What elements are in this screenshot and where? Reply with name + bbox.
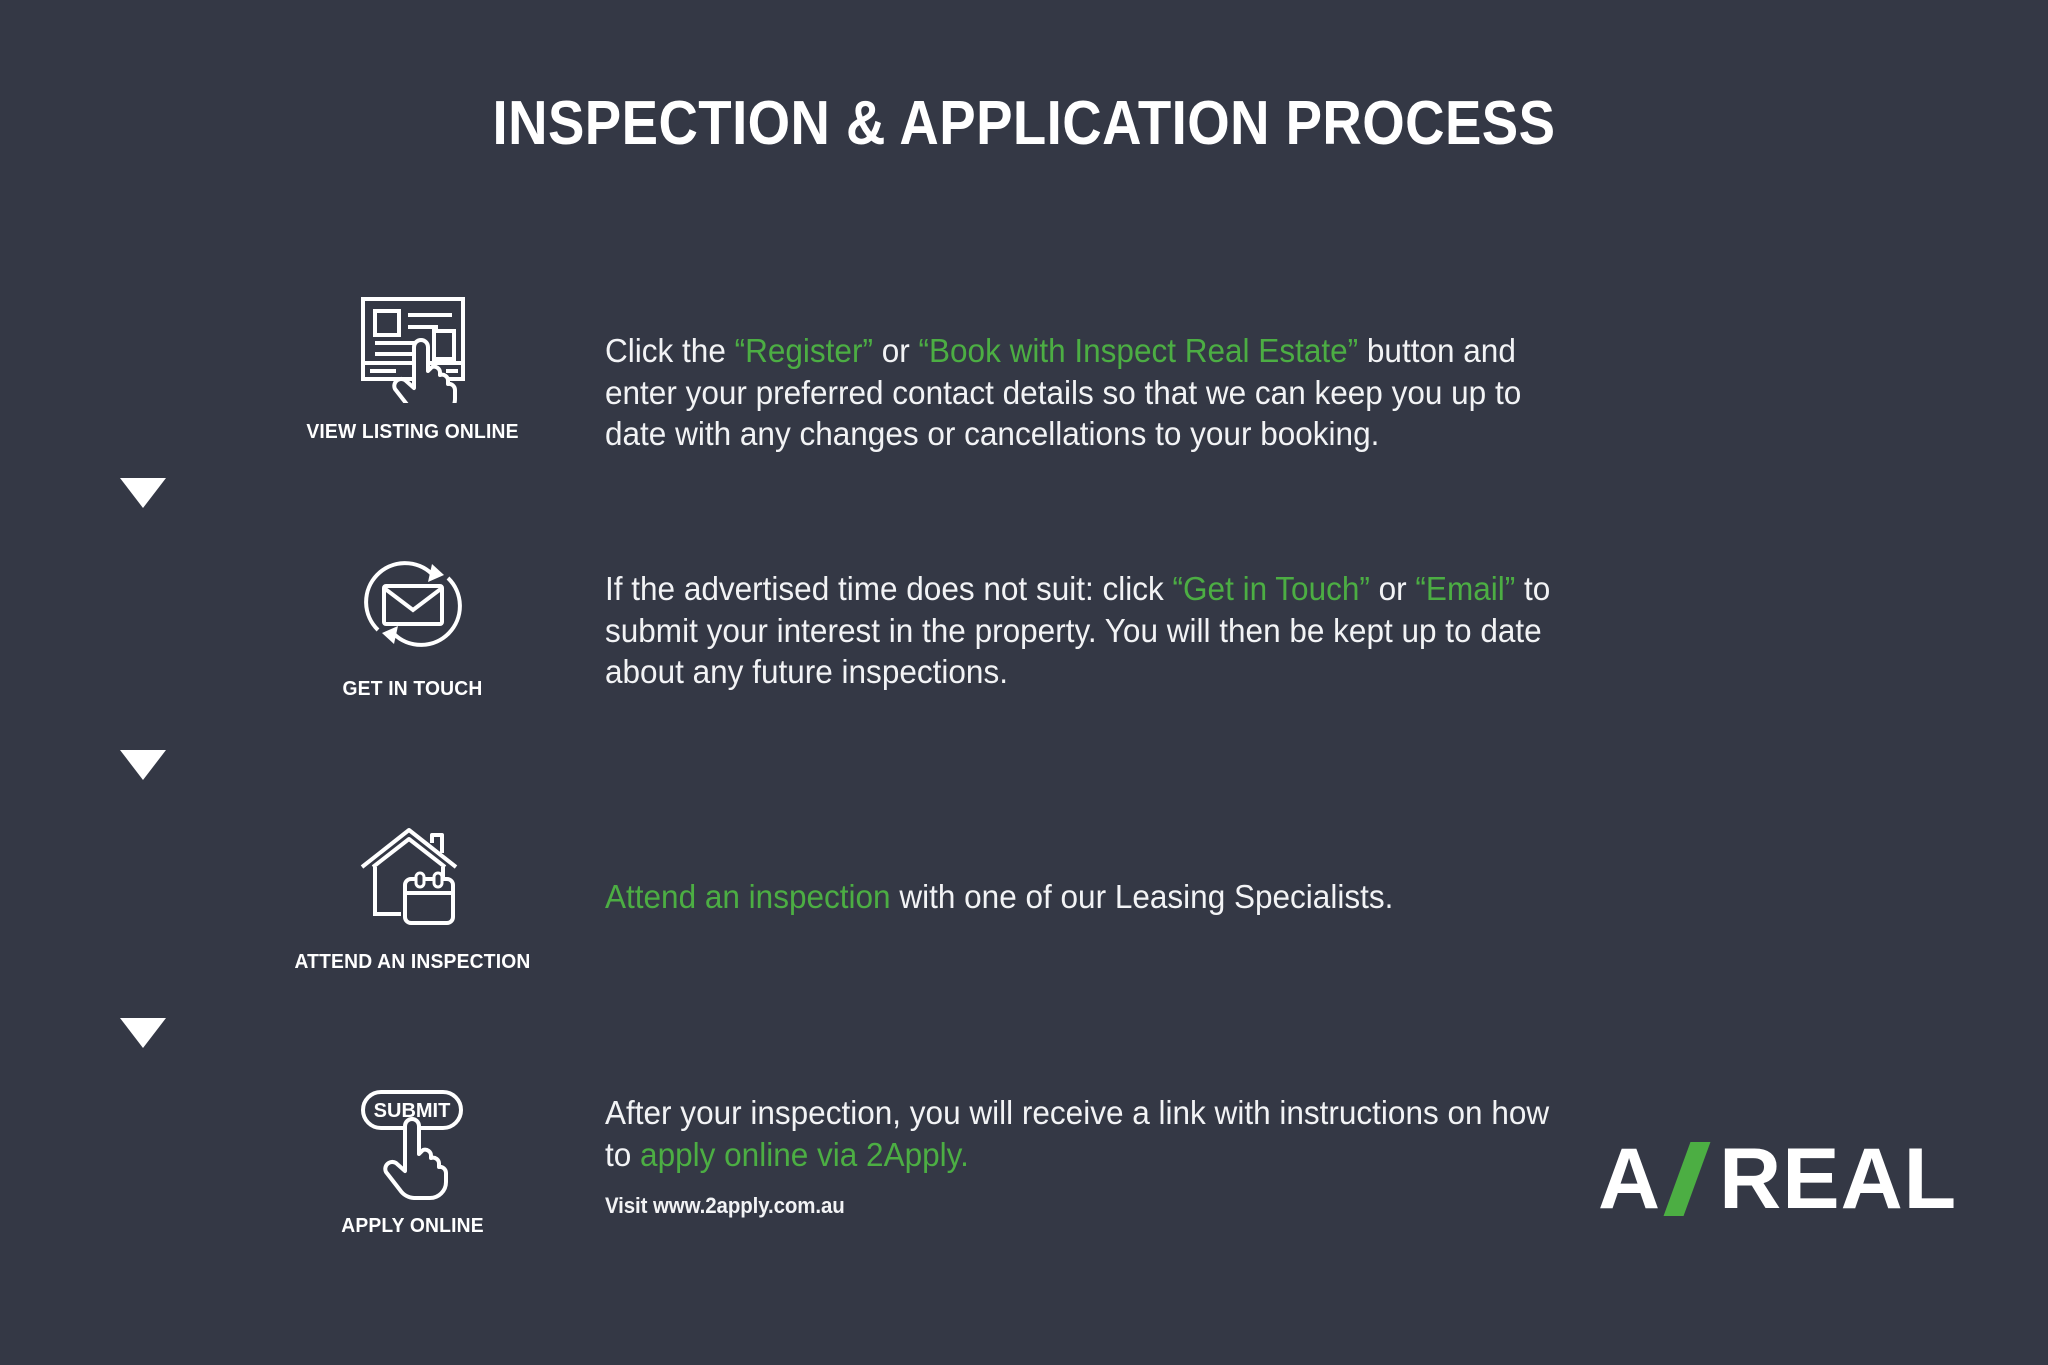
seg-normal: or (873, 332, 919, 369)
infographic-page: INSPECTION & APPLICATION PROCESS VIEW LI… (0, 0, 2048, 1365)
step-4-body: After your inspection, you will receive … (605, 1092, 1570, 1175)
visit-url-note: Visit www.2apply.com.au (605, 1193, 845, 1219)
webpage-listing-with-pointer-icon (354, 291, 472, 403)
areal-logo: A REAL (1598, 1133, 1957, 1225)
page-title: INSPECTION & APPLICATION PROCESS (123, 88, 1925, 159)
step-3-label: ATTEND AN INSPECTION (279, 950, 547, 974)
seg-normal: with one of our Leasing Specialists. (891, 878, 1394, 915)
seg-book-inspect: “Book with Inspect Real Estate” (918, 332, 1358, 369)
seg-register: “Register” (735, 332, 873, 369)
step-3-icon-column: ATTEND AN INSPECTION (270, 818, 555, 974)
seg-apply-2apply: apply online via 2Apply. (640, 1136, 969, 1173)
arrow-down-1 (0, 478, 285, 508)
arrow-down-3 (0, 1018, 285, 1048)
logo-word-real: REAL (1719, 1136, 1957, 1222)
logo-slash-icon (1664, 1142, 1711, 1216)
seg-get-in-touch: “Get in Touch” (1173, 570, 1370, 607)
step-1-icon-column: VIEW LISTING ONLINE (270, 288, 555, 444)
step-2-label: GET IN TOUCH (279, 677, 547, 701)
seg-attend-inspection: Attend an inspection (605, 878, 891, 915)
step-1-label: VIEW LISTING ONLINE (279, 420, 547, 444)
seg-normal: or (1370, 570, 1416, 607)
get-in-touch-icon-wrap (270, 545, 555, 663)
step-2-body: If the advertised time does not suit: cl… (605, 568, 1570, 693)
step-3-body: Attend an inspection with one of our Lea… (605, 876, 1570, 918)
seg-normal: If the advertised time does not suit: cl… (605, 570, 1173, 607)
envelope-refresh-cycle-icon (354, 548, 472, 660)
seg-email: “Email” (1415, 570, 1515, 607)
step-1-body: Click the “Register” or “Book with Inspe… (605, 330, 1570, 455)
seg-normal: Click the (605, 332, 735, 369)
step-4-label: APPLY ONLINE (279, 1214, 547, 1238)
step-2-icon-column: GET IN TOUCH (270, 545, 555, 701)
attend-inspection-icon-wrap (270, 818, 555, 936)
house-with-calendar-icon (354, 821, 472, 933)
view-listing-online-icon-wrap (270, 288, 555, 406)
logo-letter-a: A (1598, 1136, 1661, 1222)
submit-button-with-pointer-icon: SUBMIT (348, 1082, 478, 1200)
step-4-icon-column: SUBMIT APPLY ONLINE (270, 1082, 555, 1238)
arrow-down-2 (0, 750, 285, 780)
apply-online-icon-wrap: SUBMIT (270, 1082, 555, 1200)
